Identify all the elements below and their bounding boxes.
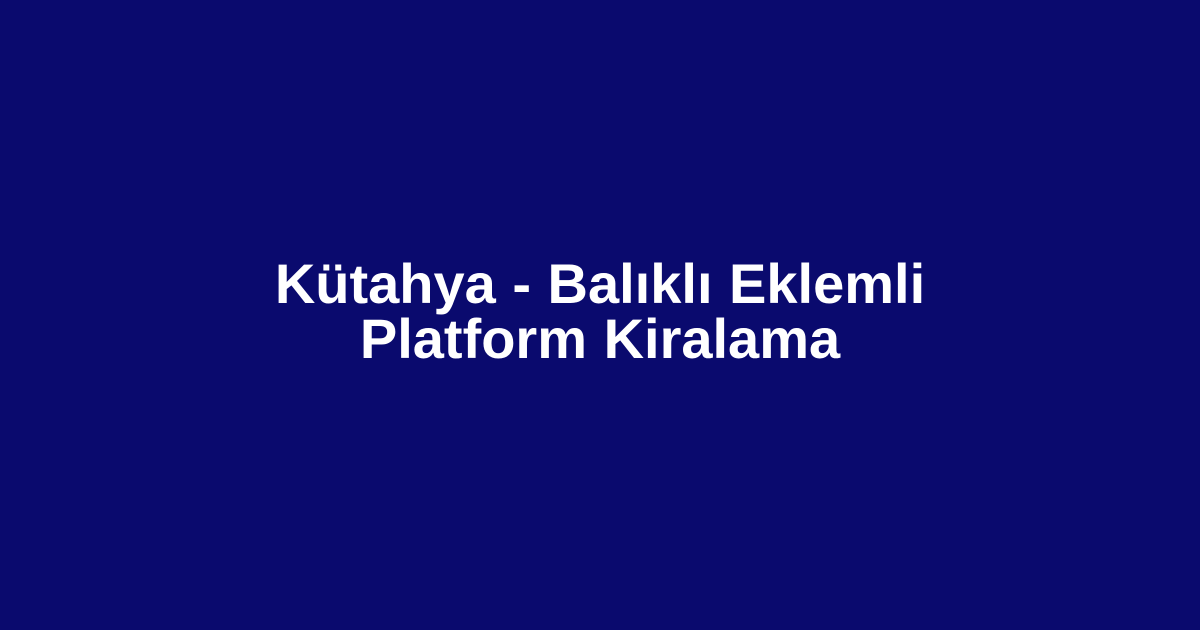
page-title: Kütahya - Balıklı Eklemli Platform Kiral… <box>160 256 1040 366</box>
title-block: Kütahya - Balıklı Eklemli Platform Kiral… <box>160 256 1040 366</box>
og-banner-card: Kütahya - Balıklı Eklemli Platform Kiral… <box>0 0 1200 630</box>
